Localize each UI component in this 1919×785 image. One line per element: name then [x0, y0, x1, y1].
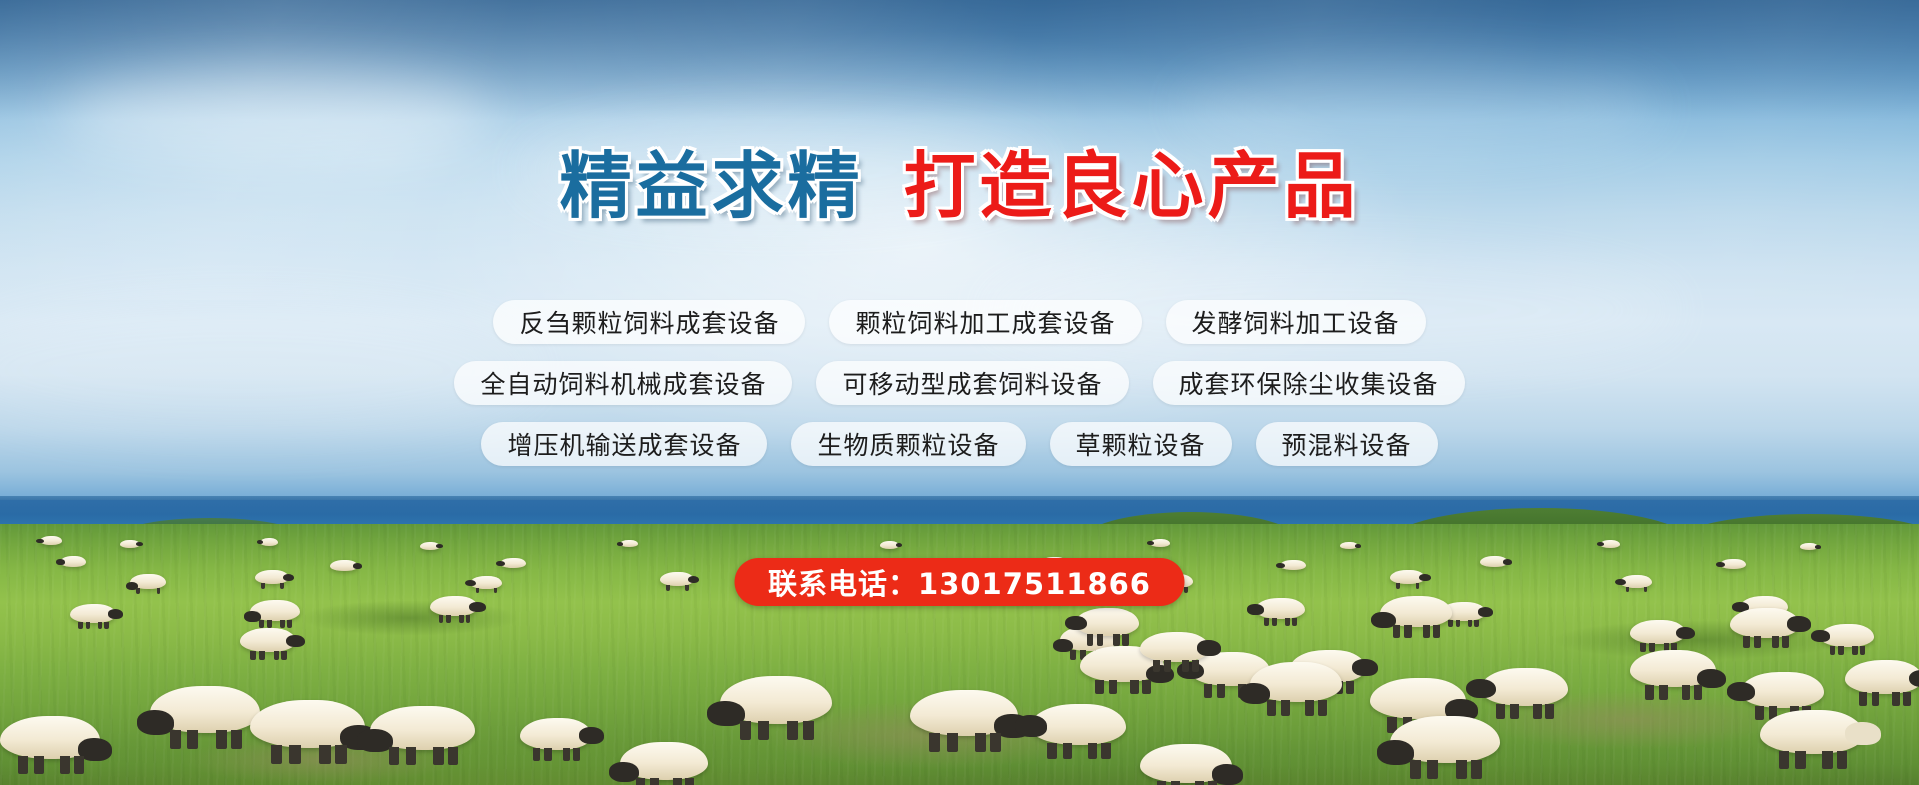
sheep-large: [1730, 608, 1800, 638]
sheep-large: [520, 718, 592, 750]
sheep-large: [1480, 668, 1568, 706]
sheep-large: [1740, 672, 1824, 708]
cloud-wisp-1: [60, 70, 490, 160]
sheep-large: [1630, 650, 1716, 687]
sheep: [1820, 624, 1874, 647]
sheep-mid: [255, 570, 289, 584]
sheep: [240, 628, 296, 652]
sheep-far: [880, 541, 899, 549]
sheep-mid: [470, 576, 502, 589]
category-pill-premix-equipment[interactable]: 预混料设备: [1256, 422, 1438, 466]
sheep-large: [1140, 632, 1210, 662]
sheep-large: [620, 742, 708, 780]
category-pill-ruminant-pellet-feed-complete-equipment[interactable]: 反刍颗粒饲料成套设备: [493, 300, 805, 344]
sheep-far: [420, 542, 440, 550]
contact-phone-banner[interactable]: 联系电话：13017511866: [734, 558, 1185, 606]
sheep: [250, 600, 300, 621]
sheep-far: [620, 540, 638, 547]
category-pill-fully-automatic-feed-machinery-complete-equipment[interactable]: 全自动饲料机械成套设备: [454, 361, 792, 405]
sheep-large: [370, 706, 475, 750]
sheep-mid: [1280, 560, 1306, 570]
category-row-3: 增压机输送成套设备 生物质颗粒设备 草颗粒设备 预混料设备: [481, 422, 1437, 466]
sheep: [1255, 598, 1305, 619]
sheep-mid: [330, 560, 358, 571]
sheep-far: [40, 536, 62, 545]
sheep-mid: [1480, 556, 1508, 567]
sheep-far: [1340, 542, 1358, 549]
grass-tuft-1: [300, 600, 520, 636]
sheep-mid: [130, 574, 166, 589]
category-pill-complete-environmental-dust-collection-equipment[interactable]: 成套环保除尘收集设备: [1153, 361, 1465, 405]
sheep-large: [1760, 710, 1864, 754]
headline-blue-text: 精益求精: [559, 144, 863, 228]
sheep-mid: [60, 556, 86, 567]
category-pill-mobile-complete-feed-equipment[interactable]: 可移动型成套饲料设备: [816, 361, 1128, 405]
sheep-large: [1390, 716, 1500, 763]
sheep-large: [1030, 704, 1126, 745]
sheep-large: [0, 716, 100, 759]
page-title: 精益求精打造良心产品: [0, 150, 1919, 222]
category-pill-pellet-feed-processing-complete-equipment[interactable]: 颗粒饲料加工成套设备: [829, 300, 1141, 344]
sheep-far: [120, 540, 140, 548]
category-row-1: 反刍颗粒饲料成套设备 颗粒饲料加工成套设备 发酵饲料加工设备: [493, 300, 1425, 344]
category-row-2: 全自动饲料机械成套设备 可移动型成套饲料设备 成套环保除尘收集设备: [454, 361, 1464, 405]
sheep-large: [1380, 596, 1452, 627]
category-pill-list: 反刍颗粒饲料成套设备 颗粒饲料加工成套设备 发酵饲料加工设备 全自动饲料机械成套…: [0, 300, 1919, 466]
sheep-large: [150, 686, 260, 733]
sheep-large: [910, 690, 1018, 736]
sheep: [70, 604, 116, 623]
sheep-large: [1845, 660, 1919, 694]
category-pill-grass-pellet-equipment[interactable]: 草颗粒设备: [1050, 422, 1232, 466]
headline-red-text: 打造良心产品: [904, 144, 1360, 228]
sheep-mid: [1720, 559, 1746, 569]
sheep-mid: [500, 558, 526, 568]
sheep: [430, 596, 478, 616]
promo-banner: 精益求精打造良心产品 反刍颗粒饲料成套设备 颗粒饲料加工成套设备 发酵饲料加工设…: [0, 0, 1919, 785]
sheep-far: [1600, 540, 1620, 548]
category-pill-booster-conveying-complete-equipment[interactable]: 增压机输送成套设备: [481, 422, 767, 466]
sheep-mid: [1620, 575, 1652, 588]
sheep-mid: [1390, 570, 1425, 584]
sheep-large: [1075, 608, 1139, 636]
sheep-large: [1250, 662, 1342, 702]
sheep-large: [1140, 744, 1232, 783]
sheep-far: [1800, 543, 1818, 550]
sheep-far: [260, 538, 278, 546]
sheep-large: [1370, 678, 1466, 719]
cloud-wisp-3: [1180, 60, 1660, 155]
sheep-large: [250, 700, 365, 748]
sheep-mid: [660, 572, 694, 586]
sheep: [1630, 620, 1686, 644]
category-pill-biomass-pellet-equipment[interactable]: 生物质颗粒设备: [791, 422, 1025, 466]
category-pill-fermented-feed-processing-equipment[interactable]: 发酵饲料加工设备: [1166, 300, 1426, 344]
sheep-large: [720, 676, 832, 724]
sheep-far: [1150, 539, 1170, 547]
